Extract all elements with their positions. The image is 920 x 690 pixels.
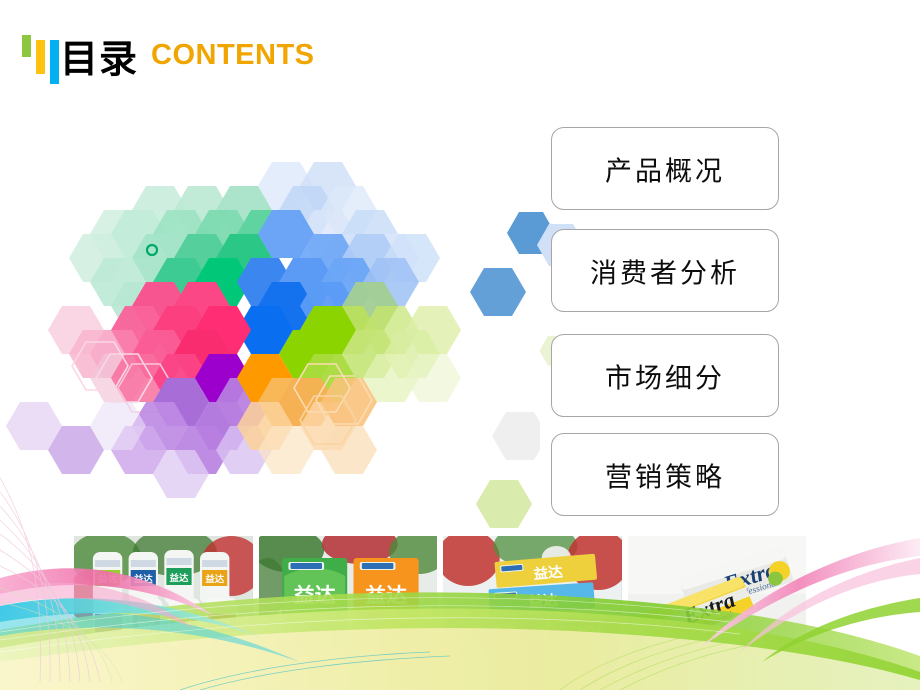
menu-item-label: 消费者分析	[552, 251, 778, 290]
svg-text:益达: 益达	[365, 583, 407, 606]
svg-text:益达: 益达	[175, 618, 195, 630]
three-bar-logo	[22, 30, 64, 80]
svg-text:益达: 益达	[487, 622, 518, 641]
svg-text:12片装: 12片装	[302, 611, 326, 620]
svg-text:益达: 益达	[205, 573, 225, 585]
page-title-en: CONTENTS	[151, 39, 315, 71]
contents-menu: 产品概况 消费者分析 市场细分 营销策略	[551, 127, 789, 517]
svg-text:益达: 益达	[528, 591, 559, 611]
slide-root: 目录CONTENTS	[0, 0, 920, 690]
product-photo-strip: 益达益达 益达益达 益达益达 益达 益达 12片装	[70, 532, 810, 660]
page-title: 目录CONTENTS	[60, 28, 315, 83]
menu-item-market-segmentation[interactable]: 市场细分	[551, 334, 779, 417]
photo-extra-packs-pair: 益达 12片装 益达	[259, 536, 438, 656]
svg-text:益达: 益达	[134, 573, 154, 585]
svg-text:益达: 益达	[98, 573, 118, 585]
page-title-cn: 目录	[60, 37, 138, 81]
svg-text:益达: 益达	[170, 572, 190, 584]
photo-extra-professional: Extra Professional Extra Professional	[628, 536, 807, 656]
slide-header: 目录CONTENTS	[0, 0, 920, 105]
svg-text:益达: 益达	[293, 583, 335, 606]
yellow-bar-icon	[36, 40, 45, 74]
menu-item-marketing-strategy[interactable]: 营销策略	[551, 433, 779, 516]
menu-item-product-overview[interactable]: 产品概况	[551, 127, 779, 210]
svg-text:益达: 益达	[213, 618, 233, 630]
cyan-bar-icon	[50, 40, 59, 84]
menu-item-label: 营销策略	[552, 455, 778, 494]
menu-item-label: 市场细分	[552, 356, 778, 395]
menu-item-consumer-analysis[interactable]: 消费者分析	[551, 229, 779, 312]
photo-extra-boxes-group: 益达 益达 益达	[443, 536, 622, 656]
photo-extra-bottles: 益达益达 益达益达 益达益达 益达	[74, 536, 253, 656]
green-bar-icon	[22, 35, 31, 57]
hexagon-honeycomb-cluster	[0, 150, 540, 550]
svg-text:益达: 益达	[137, 618, 157, 630]
svg-text:益达: 益达	[575, 624, 606, 643]
menu-item-label: 产品概况	[552, 149, 778, 188]
